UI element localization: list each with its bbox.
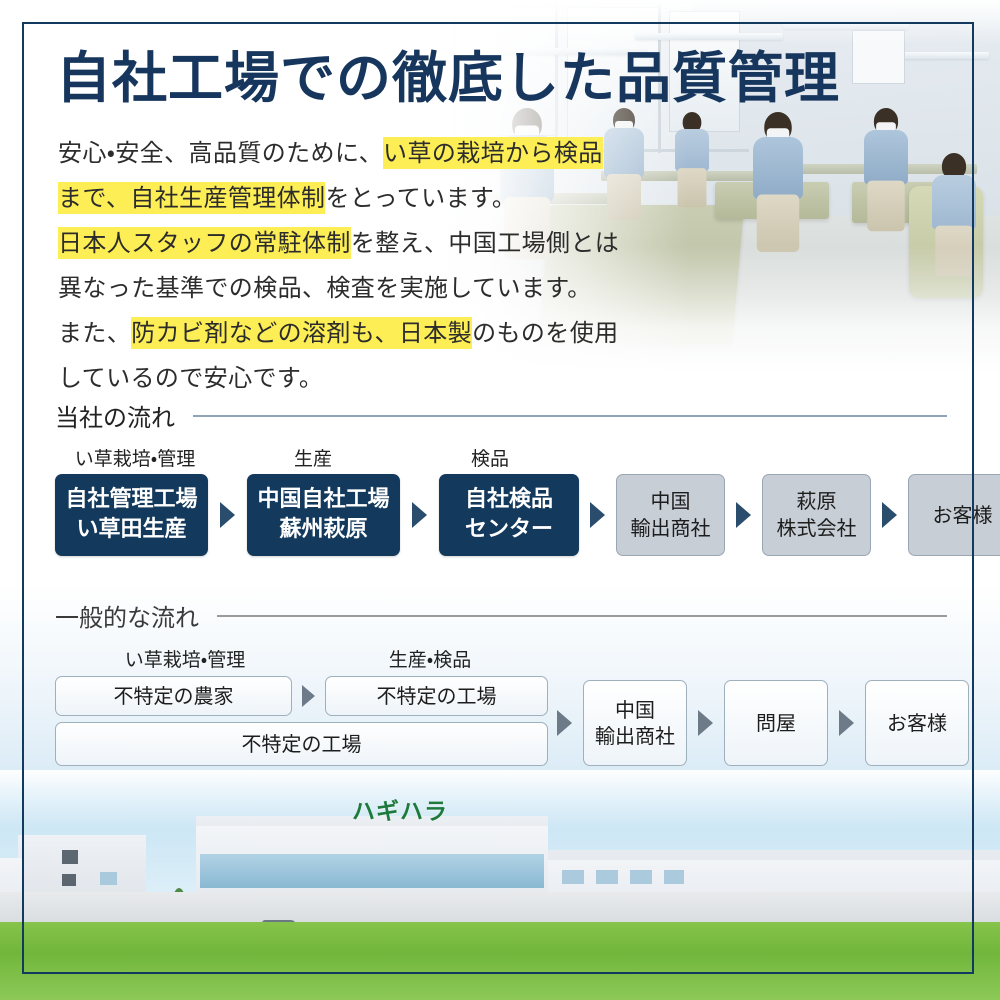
own-flow-arrow-2 — [590, 502, 605, 528]
general-flow-tail-step-1[interactable]: 問屋 — [724, 680, 828, 766]
factory-exterior-photo: ハギハラ — [0, 770, 1000, 1000]
general-flow-tail-step-2-line1: お客様 — [887, 710, 947, 736]
lead-line-2-plain: をとっています。 — [325, 184, 516, 212]
general-flow-arrow-3 — [839, 710, 854, 736]
own-flow-step-5-line1: お客様 — [933, 502, 993, 529]
company-sign: ハギハラ — [352, 792, 448, 826]
own-flow-step-1-line1: 中国自社工場 — [257, 485, 389, 515]
own-flow-caption-0: い草栽培・管理 — [55, 444, 215, 471]
lead-line-3-highlight: 日本人スタッフの常駐体制 — [58, 227, 351, 259]
own-flow-step-0-line1: 自社管理工場 — [65, 485, 197, 515]
general-flow-captions: い草栽培・管理 生産・検品 — [55, 645, 955, 671]
lead-line-6: しているので安心です。 — [58, 356, 678, 401]
lead-line-1-highlight: い草の栽培から検品 — [383, 137, 603, 169]
own-flow-step-3-line2: 輸出商社 — [631, 515, 711, 542]
lead-line-5-plain-b: のものを使用 — [472, 319, 618, 347]
lead-line-5-plain-a: また、 — [58, 319, 131, 347]
general-flow-tail-step-1-line1: 問屋 — [756, 710, 796, 736]
general-flow-top-row: 不特定の農家 不特定の工場 — [55, 676, 548, 716]
own-flow-heading-label: 当社の流れ — [55, 398, 175, 433]
general-flow-tail-row: 中国 輸出商社 問屋 お客様 — [557, 680, 969, 766]
general-flow-tail-step-0[interactable]: 中国 輸出商社 — [583, 680, 687, 766]
own-flow-step-2-line2: センター — [465, 515, 553, 545]
general-flow-tail-step-0-line1: 中国 — [615, 697, 655, 723]
page-title: 自社工場での徹底した品質管理 — [56, 48, 840, 109]
general-flow-heading-label: 一般的な流れ — [55, 598, 199, 633]
own-flow-arrow-4 — [882, 502, 897, 528]
general-flow-top-step-1-label: 不特定の工場 — [377, 683, 497, 709]
own-flow-step-2-line1: 自社検品 — [465, 485, 553, 515]
own-flow-step-3-line1: 中国 — [651, 488, 691, 515]
own-flow-caption-1: 生産 — [233, 444, 393, 471]
own-flow-step-4-line2: 株式会社 — [777, 515, 857, 542]
lead-line-5: また、防カビ剤などの溶剤も、日本製のものを使用 — [58, 311, 678, 356]
own-flow-step-5[interactable]: お客様 — [908, 474, 1000, 556]
own-flow-arrow-3 — [736, 502, 751, 528]
lead-line-1-plain: 安心・安全、高品質のために、 — [58, 139, 383, 167]
general-flow-heading: 一般的な流れ — [55, 598, 947, 633]
own-flow-step-1[interactable]: 中国自社工場 蘇州萩原 — [247, 474, 400, 556]
lead-line-4: 異なった基準での検品、検査を実施しています。 — [58, 266, 678, 311]
general-flow-arrow-0 — [302, 685, 315, 707]
lead-paragraph: 安心・安全、高品質のために、い草の栽培から検品 まで、自社生産管理体制をとってい… — [58, 131, 678, 401]
lead-line-1: 安心・安全、高品質のために、い草の栽培から検品 — [58, 131, 678, 176]
general-flow-tail-step-2[interactable]: お客様 — [865, 680, 969, 766]
own-flow-heading: 当社の流れ — [55, 398, 947, 433]
own-flow-step-2[interactable]: 自社検品 センター — [439, 474, 579, 556]
own-flow-arrow-1 — [412, 502, 427, 528]
lead-line-5-highlight: 防カビ剤などの溶剤も、日本製 — [131, 317, 472, 349]
general-flow-top-step-0-label: 不特定の農家 — [114, 683, 234, 709]
general-flow-wide-row: 不特定の工場 — [55, 722, 548, 766]
general-flow-wide-step-label: 不特定の工場 — [242, 731, 362, 757]
general-flow-top-step-0[interactable]: 不特定の農家 — [55, 676, 292, 716]
own-flow-step-0-line2: い草田生産 — [76, 515, 186, 545]
own-flow-step-3[interactable]: 中国 輸出商社 — [616, 474, 725, 556]
general-flow-top-step-1[interactable]: 不特定の工場 — [325, 676, 548, 716]
lead-line-3: 日本人スタッフの常駐体制を整え、中国工場側とは — [58, 221, 678, 266]
general-flow-tail-step-0-line2: 輸出商社 — [595, 723, 675, 749]
general-flow-caption-0: い草栽培・管理 — [90, 645, 280, 672]
general-flow-caption-1: 生産・検品 — [335, 645, 525, 672]
own-flow-step-4[interactable]: 萩原 株式会社 — [762, 474, 871, 556]
general-flow-arrow-2 — [698, 710, 713, 736]
general-flow-heading-rule — [217, 615, 947, 617]
own-flow-step-4-line1: 萩原 — [797, 488, 837, 515]
lead-line-3-plain: を整え、中国工場側とは — [351, 229, 619, 257]
general-flow-arrow-1 — [557, 710, 572, 736]
lead-line-2: まで、自社生産管理体制をとっています。 — [58, 176, 678, 221]
general-flow-wide-step[interactable]: 不特定の工場 — [55, 722, 548, 766]
own-flow-step-0[interactable]: 自社管理工場 い草田生産 — [55, 474, 208, 556]
infographic-page: 自社工場での徹底した品質管理 安心・安全、高品質のために、い草の栽培から検品 ま… — [0, 0, 1000, 1000]
own-flow-row: 自社管理工場 い草田生産 中国自社工場 蘇州萩原 自社検品 センター 中国 輸出… — [55, 474, 1000, 556]
own-flow-step-1-line2: 蘇州萩原 — [279, 515, 367, 545]
lead-line-2-highlight: まで、自社生産管理体制 — [58, 182, 325, 214]
own-flow-caption-2: 検品 — [410, 444, 570, 471]
own-flow-heading-rule — [193, 415, 947, 417]
own-flow-captions: い草栽培・管理 生産 検品 — [55, 444, 955, 470]
own-flow-arrow-0 — [220, 502, 235, 528]
